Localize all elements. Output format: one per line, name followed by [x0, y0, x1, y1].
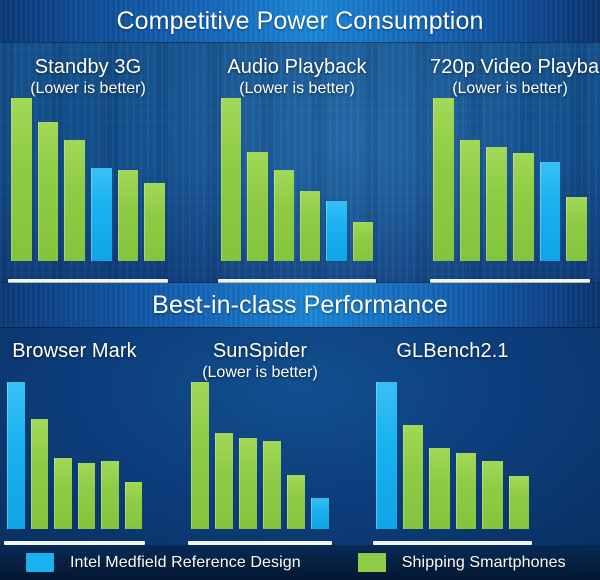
bar-audio-5 — [326, 201, 346, 261]
chart-browser-mark-title: Browser Mark — [4, 340, 145, 363]
chart-browser-mark: Browser Mark — [4, 330, 145, 545]
chart-glbench-21-title: GLBench2.1 — [373, 340, 532, 363]
chart-browser-mark-plot — [4, 382, 145, 529]
slide-root: Competitive Power Consumption Standby 3G… — [0, 0, 600, 580]
chart-720p-video-playback-bars — [430, 98, 590, 261]
bar-video-6 — [566, 197, 587, 261]
bar-sunspider-5 — [287, 475, 305, 529]
bar-video-4 — [513, 153, 534, 261]
chart-audio-playback-titles: Audio Playback (Lower is better) — [218, 56, 376, 98]
bar-glbench-6 — [509, 476, 530, 529]
bar-browser-3 — [54, 458, 72, 529]
legend-item-shipping: Shipping Smartphones — [358, 553, 566, 572]
bar-audio-3 — [274, 170, 294, 261]
banner-middle-title: Best-in-class Performance — [152, 291, 448, 320]
bar-video-3 — [486, 147, 507, 261]
chart-720p-video-playback-plot — [430, 98, 590, 261]
chart-720p-video-playback-title: 720p Video Playback — [430, 56, 590, 79]
chart-720p-video-playback-titles: 720p Video Playback (Lower is better) — [430, 56, 590, 98]
bar-sunspider-3 — [239, 438, 257, 529]
chart-audio-playback-subtitle: (Lower is better) — [218, 79, 376, 98]
chart-sunspider-titles: SunSpider (Lower is better) — [188, 340, 332, 382]
chart-sunspider: SunSpider (Lower is better) — [188, 330, 332, 545]
bar-sunspider-1 — [191, 382, 209, 529]
chart-sunspider-title: SunSpider — [188, 340, 332, 363]
chart-standby-3g: Standby 3G (Lower is better) — [8, 46, 168, 283]
chart-standby-3g-bars — [8, 98, 168, 261]
bar-sunspider-6 — [311, 498, 329, 529]
chart-glbench-21-titles: GLBench2.1 — [373, 340, 532, 363]
chart-browser-mark-bars — [4, 382, 145, 529]
bar-audio-6 — [353, 222, 373, 261]
banner-power-consumption: Competitive Power Consumption — [0, 0, 600, 42]
bar-glbench-4 — [456, 453, 477, 529]
chart-standby-3g-titles: Standby 3G (Lower is better) — [8, 56, 168, 98]
bar-standby-4 — [91, 168, 112, 261]
chart-standby-3g-plot — [8, 98, 168, 261]
legend: Intel Medfield Reference Design Shipping… — [0, 545, 600, 580]
legend-label-shipping: Shipping Smartphones — [402, 554, 566, 572]
bar-audio-1 — [221, 98, 241, 261]
bar-glbench-1 — [376, 382, 397, 529]
bar-sunspider-2 — [215, 433, 233, 529]
bar-browser-1 — [7, 382, 25, 529]
bar-glbench-2 — [403, 425, 424, 529]
banner-best-in-class-performance: Best-in-class Performance — [0, 283, 600, 327]
bar-standby-3 — [64, 140, 85, 261]
bar-audio-4 — [300, 191, 320, 261]
chart-720p-video-playback-subtitle: (Lower is better) — [430, 79, 590, 98]
chart-glbench-21: GLBench2.1 — [373, 330, 532, 545]
bar-standby-6 — [144, 183, 165, 261]
bar-browser-5 — [101, 461, 119, 529]
chart-audio-playback-plot — [218, 98, 376, 261]
bar-standby-2 — [38, 122, 59, 261]
chart-audio-playback: Audio Playback (Lower is better) — [218, 46, 376, 283]
bar-sunspider-4 — [263, 441, 281, 529]
chart-sunspider-bars — [188, 382, 332, 529]
chart-audio-playback-bars — [218, 98, 376, 261]
legend-item-intel: Intel Medfield Reference Design — [26, 553, 301, 572]
bar-video-1 — [433, 98, 454, 261]
bar-browser-6 — [125, 482, 143, 529]
bar-glbench-3 — [429, 448, 450, 529]
bar-standby-5 — [118, 170, 139, 261]
chart-standby-3g-title: Standby 3G — [8, 56, 168, 79]
chart-sunspider-plot — [188, 382, 332, 529]
chart-glbench-21-plot — [373, 382, 532, 529]
chart-standby-3g-subtitle: (Lower is better) — [8, 79, 168, 98]
bar-video-2 — [460, 140, 481, 261]
legend-swatch-intel — [26, 553, 54, 572]
chart-browser-mark-titles: Browser Mark — [4, 340, 145, 363]
chart-sunspider-subtitle: (Lower is better) — [188, 363, 332, 382]
bar-standby-1 — [11, 98, 32, 261]
bar-audio-2 — [247, 152, 267, 261]
chart-glbench-21-bars — [373, 382, 532, 529]
bar-browser-2 — [31, 419, 49, 529]
chart-audio-playback-title: Audio Playback — [218, 56, 376, 79]
legend-label-intel: Intel Medfield Reference Design — [70, 554, 301, 572]
banner-top-title: Competitive Power Consumption — [117, 7, 484, 36]
legend-swatch-shipping — [358, 553, 386, 572]
chart-720p-video-playback: 720p Video Playback (Lower is better) — [430, 46, 590, 283]
bar-browser-4 — [78, 463, 96, 529]
bar-video-5 — [540, 162, 561, 261]
bar-glbench-5 — [482, 461, 503, 529]
